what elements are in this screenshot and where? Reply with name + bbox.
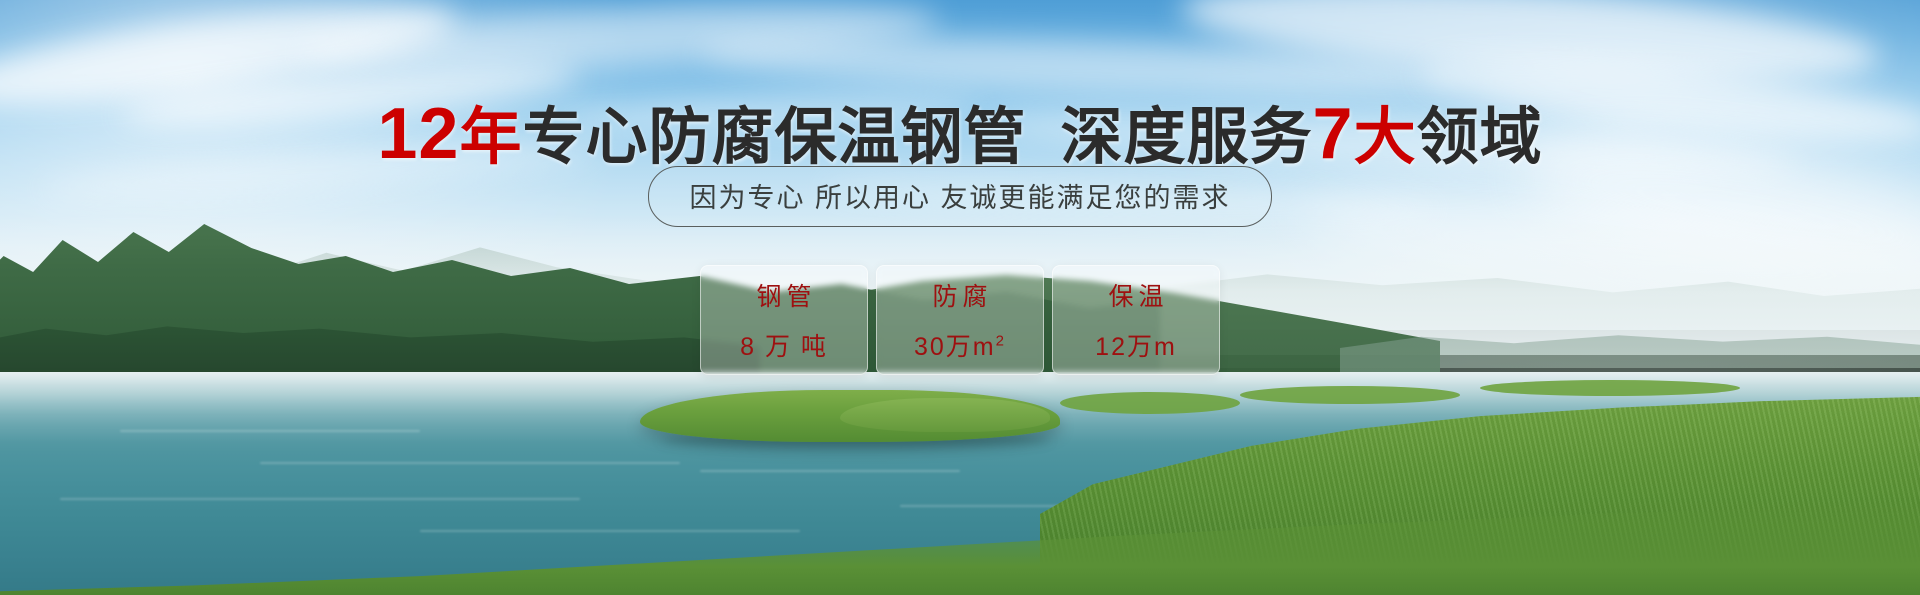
headline-fields-number: 7 [1313, 94, 1354, 174]
stat-card-anticorrosion: 防腐 30万m2 [876, 265, 1044, 375]
stat-card-value-superscript: 2 [996, 333, 1006, 350]
banner-subtitle-container: 因为专心 所以用心 友诚更能满足您的需求 [0, 166, 1920, 227]
headline-years-unit: 年 [459, 103, 522, 172]
stat-card-value: 8 万 吨 [740, 327, 828, 363]
banner-content: 12年专心防腐保温钢管深度服务7大领域 因为专心 所以用心 友诚更能满足您的需求… [0, 0, 1920, 595]
banner-subtitle-pill: 因为专心 所以用心 友诚更能满足您的需求 [648, 166, 1271, 227]
stat-card-label: 防腐 [927, 277, 992, 313]
stat-card-value: 12万m [1095, 327, 1177, 363]
stat-card-insulation: 保温 12万m [1052, 265, 1220, 375]
headline-text-primary: 专心防腐保温钢管 [523, 103, 1027, 172]
stat-card-value: 30万m2 [914, 327, 1006, 363]
headline-text-secondary: 深度服务 [1061, 103, 1313, 172]
headline-text-tertiary: 领域 [1417, 103, 1543, 172]
stat-cards: 钢管 8 万 吨 防腐 30万m2 保温 12万m [0, 265, 1920, 375]
hero-banner: 12年专心防腐保温钢管深度服务7大领域 因为专心 所以用心 友诚更能满足您的需求… [0, 0, 1920, 595]
banner-headline: 12年专心防腐保温钢管深度服务7大领域 [0, 86, 1920, 176]
headline-years-number: 12 [377, 94, 459, 174]
stat-card-value-text: 30万m [914, 333, 996, 361]
stat-card-value-text: 8 万 吨 [740, 333, 828, 361]
stat-card-steel-pipe: 钢管 8 万 吨 [700, 265, 868, 375]
stat-card-label: 钢管 [751, 277, 816, 313]
stat-card-value-text: 12万m [1095, 333, 1177, 361]
headline-fields-unit: 大 [1354, 103, 1417, 172]
stat-card-label: 保温 [1103, 277, 1168, 313]
